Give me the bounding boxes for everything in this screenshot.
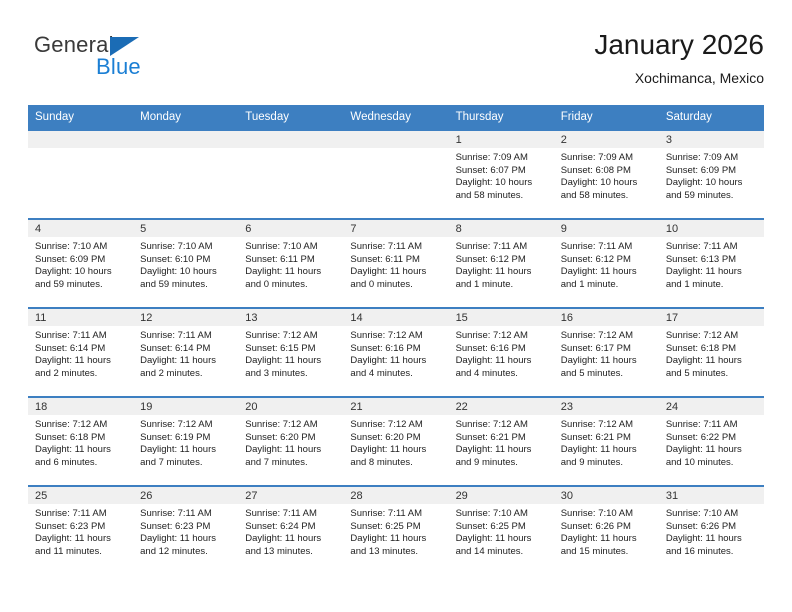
day-cell-details: Sunrise: 7:10 AMSunset: 6:26 PMDaylight:… <box>659 504 764 558</box>
daylight-text-line1: Daylight: 11 hours <box>666 355 758 368</box>
sunset-text: Sunset: 6:10 PM <box>140 254 232 267</box>
day-cell-inner: 23Sunrise: 7:12 AMSunset: 6:21 PMDayligh… <box>554 398 659 485</box>
calendar-day-cell[interactable]: 29Sunrise: 7:10 AMSunset: 6:25 PMDayligh… <box>449 486 554 575</box>
day-cell-details: Sunrise: 7:10 AMSunset: 6:26 PMDaylight:… <box>554 504 659 558</box>
daylight-text-line1: Daylight: 11 hours <box>350 444 442 457</box>
day-number <box>238 131 343 148</box>
sunrise-text: Sunrise: 7:10 AM <box>561 508 653 521</box>
calendar-day-cell[interactable]: 13Sunrise: 7:12 AMSunset: 6:15 PMDayligh… <box>238 308 343 397</box>
day-number: 14 <box>343 309 448 326</box>
daylight-text-line1: Daylight: 11 hours <box>561 355 653 368</box>
day-cell-details: Sunrise: 7:12 AMSunset: 6:19 PMDaylight:… <box>133 415 238 469</box>
daylight-text-line1: Daylight: 11 hours <box>35 444 127 457</box>
title-block: January 2026 Xochimanca, Mexico <box>594 28 764 88</box>
day-cell-details: Sunrise: 7:11 AMSunset: 6:11 PMDaylight:… <box>343 237 448 291</box>
calendar-day-cell[interactable]: 11Sunrise: 7:11 AMSunset: 6:14 PMDayligh… <box>28 308 133 397</box>
daylight-text-line2: and 59 minutes. <box>35 279 127 292</box>
sunset-text: Sunset: 6:07 PM <box>456 165 548 178</box>
calendar-day-cell[interactable]: 6Sunrise: 7:10 AMSunset: 6:11 PMDaylight… <box>238 219 343 308</box>
day-cell-inner: 25Sunrise: 7:11 AMSunset: 6:23 PMDayligh… <box>28 487 133 575</box>
day-number: 13 <box>238 309 343 326</box>
calendar-day-cell[interactable]: 26Sunrise: 7:11 AMSunset: 6:23 PMDayligh… <box>133 486 238 575</box>
daylight-text-line1: Daylight: 11 hours <box>456 444 548 457</box>
day-cell-details: Sunrise: 7:11 AMSunset: 6:12 PMDaylight:… <box>554 237 659 291</box>
day-cell-details: Sunrise: 7:10 AMSunset: 6:10 PMDaylight:… <box>133 237 238 291</box>
daylight-text-line2: and 6 minutes. <box>35 457 127 470</box>
daylight-text-line1: Daylight: 11 hours <box>666 533 758 546</box>
sunset-text: Sunset: 6:19 PM <box>140 432 232 445</box>
sunrise-text: Sunrise: 7:10 AM <box>456 508 548 521</box>
daylight-text-line1: Daylight: 11 hours <box>35 533 127 546</box>
sunset-text: Sunset: 6:23 PM <box>140 521 232 534</box>
day-cell-inner: 30Sunrise: 7:10 AMSunset: 6:26 PMDayligh… <box>554 487 659 575</box>
day-number: 4 <box>28 220 133 237</box>
day-cell-inner: 4Sunrise: 7:10 AMSunset: 6:09 PMDaylight… <box>28 220 133 307</box>
sunset-text: Sunset: 6:26 PM <box>666 521 758 534</box>
daylight-text-line2: and 0 minutes. <box>350 279 442 292</box>
sunset-text: Sunset: 6:18 PM <box>35 432 127 445</box>
day-number <box>343 131 448 148</box>
daylight-text-line2: and 15 minutes. <box>561 546 653 559</box>
day-number: 26 <box>133 487 238 504</box>
calendar-page: General Blue January 2026 Xochimanca, Me… <box>0 0 792 612</box>
weekday-header-monday: Monday <box>133 105 238 130</box>
day-cell-inner <box>133 131 238 218</box>
daylight-text-line2: and 16 minutes. <box>666 546 758 559</box>
daylight-text-line2: and 4 minutes. <box>456 368 548 381</box>
sunset-text: Sunset: 6:12 PM <box>456 254 548 267</box>
sunset-text: Sunset: 6:14 PM <box>140 343 232 356</box>
daylight-text-line1: Daylight: 11 hours <box>350 266 442 279</box>
day-number <box>133 131 238 148</box>
calendar-body: 1Sunrise: 7:09 AMSunset: 6:07 PMDaylight… <box>28 130 764 575</box>
calendar-day-cell-empty <box>343 130 448 219</box>
daylight-text-line1: Daylight: 10 hours <box>456 177 548 190</box>
daylight-text-line1: Daylight: 11 hours <box>245 444 337 457</box>
daylight-text-line2: and 59 minutes. <box>140 279 232 292</box>
daylight-text-line2: and 14 minutes. <box>456 546 548 559</box>
day-cell-details <box>238 148 343 152</box>
sunrise-text: Sunrise: 7:12 AM <box>245 419 337 432</box>
day-cell-inner: 11Sunrise: 7:11 AMSunset: 6:14 PMDayligh… <box>28 309 133 396</box>
sunrise-text: Sunrise: 7:12 AM <box>456 419 548 432</box>
day-cell-details: Sunrise: 7:11 AMSunset: 6:23 PMDaylight:… <box>133 504 238 558</box>
daylight-text-line1: Daylight: 11 hours <box>666 444 758 457</box>
calendar-day-cell[interactable]: 24Sunrise: 7:11 AMSunset: 6:22 PMDayligh… <box>659 397 764 486</box>
daylight-text-line1: Daylight: 10 hours <box>666 177 758 190</box>
daylight-text-line2: and 0 minutes. <box>245 279 337 292</box>
sunrise-text: Sunrise: 7:11 AM <box>456 241 548 254</box>
daylight-text-line1: Daylight: 11 hours <box>140 444 232 457</box>
weekday-header-saturday: Saturday <box>659 105 764 130</box>
calendar-week-row: 4Sunrise: 7:10 AMSunset: 6:09 PMDaylight… <box>28 219 764 308</box>
day-cell-inner: 20Sunrise: 7:12 AMSunset: 6:20 PMDayligh… <box>238 398 343 485</box>
day-cell-inner: 3Sunrise: 7:09 AMSunset: 6:09 PMDaylight… <box>659 131 764 218</box>
calendar-day-cell[interactable]: 17Sunrise: 7:12 AMSunset: 6:18 PMDayligh… <box>659 308 764 397</box>
day-cell-inner: 8Sunrise: 7:11 AMSunset: 6:12 PMDaylight… <box>449 220 554 307</box>
day-number: 22 <box>449 398 554 415</box>
sunrise-text: Sunrise: 7:12 AM <box>456 330 548 343</box>
day-cell-details <box>133 148 238 152</box>
sunrise-text: Sunrise: 7:10 AM <box>140 241 232 254</box>
day-number: 1 <box>449 131 554 148</box>
sunrise-text: Sunrise: 7:12 AM <box>666 330 758 343</box>
day-cell-inner: 14Sunrise: 7:12 AMSunset: 6:16 PMDayligh… <box>343 309 448 396</box>
daylight-text-line2: and 1 minute. <box>666 279 758 292</box>
day-number: 24 <box>659 398 764 415</box>
daylight-text-line1: Daylight: 11 hours <box>140 533 232 546</box>
sunset-text: Sunset: 6:25 PM <box>456 521 548 534</box>
sunset-text: Sunset: 6:25 PM <box>350 521 442 534</box>
calendar-day-cell[interactable]: 7Sunrise: 7:11 AMSunset: 6:11 PMDaylight… <box>343 219 448 308</box>
day-cell-details: Sunrise: 7:11 AMSunset: 6:25 PMDaylight:… <box>343 504 448 558</box>
calendar-day-cell[interactable]: 10Sunrise: 7:11 AMSunset: 6:13 PMDayligh… <box>659 219 764 308</box>
sunset-text: Sunset: 6:21 PM <box>456 432 548 445</box>
day-number: 8 <box>449 220 554 237</box>
day-number: 3 <box>659 131 764 148</box>
sunset-text: Sunset: 6:11 PM <box>245 254 337 267</box>
day-cell-details: Sunrise: 7:12 AMSunset: 6:18 PMDaylight:… <box>28 415 133 469</box>
sunset-text: Sunset: 6:13 PM <box>666 254 758 267</box>
sunset-text: Sunset: 6:26 PM <box>561 521 653 534</box>
calendar-day-cell[interactable]: 21Sunrise: 7:12 AMSunset: 6:20 PMDayligh… <box>343 397 448 486</box>
daylight-text-line2: and 1 minute. <box>561 279 653 292</box>
sunrise-text: Sunrise: 7:11 AM <box>35 508 127 521</box>
day-number <box>28 131 133 148</box>
day-cell-inner: 27Sunrise: 7:11 AMSunset: 6:24 PMDayligh… <box>238 487 343 575</box>
day-number: 16 <box>554 309 659 326</box>
calendar-day-cell[interactable]: 2Sunrise: 7:09 AMSunset: 6:08 PMDaylight… <box>554 130 659 219</box>
sunrise-text: Sunrise: 7:10 AM <box>245 241 337 254</box>
calendar-day-cell-empty <box>133 130 238 219</box>
calendar-week-row: 1Sunrise: 7:09 AMSunset: 6:07 PMDaylight… <box>28 130 764 219</box>
sunset-text: Sunset: 6:18 PM <box>666 343 758 356</box>
daylight-text-line1: Daylight: 11 hours <box>561 533 653 546</box>
daylight-text-line1: Daylight: 11 hours <box>561 266 653 279</box>
daylight-text-line2: and 1 minute. <box>456 279 548 292</box>
day-cell-details <box>343 148 448 152</box>
daylight-text-line2: and 5 minutes. <box>666 368 758 381</box>
day-number: 31 <box>659 487 764 504</box>
day-cell-inner <box>238 131 343 218</box>
day-cell-details: Sunrise: 7:11 AMSunset: 6:12 PMDaylight:… <box>449 237 554 291</box>
day-cell-details: Sunrise: 7:11 AMSunset: 6:23 PMDaylight:… <box>28 504 133 558</box>
day-cell-details: Sunrise: 7:11 AMSunset: 6:14 PMDaylight:… <box>28 326 133 380</box>
day-cell-inner: 17Sunrise: 7:12 AMSunset: 6:18 PMDayligh… <box>659 309 764 396</box>
day-cell-inner: 18Sunrise: 7:12 AMSunset: 6:18 PMDayligh… <box>28 398 133 485</box>
day-cell-inner: 19Sunrise: 7:12 AMSunset: 6:19 PMDayligh… <box>133 398 238 485</box>
day-cell-details: Sunrise: 7:09 AMSunset: 6:07 PMDaylight:… <box>449 148 554 202</box>
day-cell-details: Sunrise: 7:12 AMSunset: 6:18 PMDaylight:… <box>659 326 764 380</box>
daylight-text-line2: and 10 minutes. <box>666 457 758 470</box>
calendar-day-cell[interactable]: 8Sunrise: 7:11 AMSunset: 6:12 PMDaylight… <box>449 219 554 308</box>
day-cell-details: Sunrise: 7:09 AMSunset: 6:08 PMDaylight:… <box>554 148 659 202</box>
daylight-text-line1: Daylight: 10 hours <box>561 177 653 190</box>
daylight-text-line1: Daylight: 10 hours <box>35 266 127 279</box>
calendar-day-cell[interactable]: 25Sunrise: 7:11 AMSunset: 6:23 PMDayligh… <box>28 486 133 575</box>
weekday-header-wednesday: Wednesday <box>343 105 448 130</box>
day-number: 17 <box>659 309 764 326</box>
day-number: 10 <box>659 220 764 237</box>
day-cell-inner: 6Sunrise: 7:10 AMSunset: 6:11 PMDaylight… <box>238 220 343 307</box>
day-cell-inner <box>343 131 448 218</box>
sunset-text: Sunset: 6:12 PM <box>561 254 653 267</box>
calendar-day-cell[interactable]: 15Sunrise: 7:12 AMSunset: 6:16 PMDayligh… <box>449 308 554 397</box>
calendar-day-cell[interactable]: 23Sunrise: 7:12 AMSunset: 6:21 PMDayligh… <box>554 397 659 486</box>
day-cell-inner: 28Sunrise: 7:11 AMSunset: 6:25 PMDayligh… <box>343 487 448 575</box>
weekday-header-sunday: Sunday <box>28 105 133 130</box>
day-cell-details: Sunrise: 7:11 AMSunset: 6:14 PMDaylight:… <box>133 326 238 380</box>
day-cell-inner: 22Sunrise: 7:12 AMSunset: 6:21 PMDayligh… <box>449 398 554 485</box>
day-number: 21 <box>343 398 448 415</box>
sunset-text: Sunset: 6:22 PM <box>666 432 758 445</box>
calendar-week-row: 25Sunrise: 7:11 AMSunset: 6:23 PMDayligh… <box>28 486 764 575</box>
day-cell-details: Sunrise: 7:11 AMSunset: 6:24 PMDaylight:… <box>238 504 343 558</box>
daylight-text-line1: Daylight: 11 hours <box>35 355 127 368</box>
day-number: 11 <box>28 309 133 326</box>
calendar-week-row: 18Sunrise: 7:12 AMSunset: 6:18 PMDayligh… <box>28 397 764 486</box>
day-number: 12 <box>133 309 238 326</box>
calendar-day-cell[interactable]: 28Sunrise: 7:11 AMSunset: 6:25 PMDayligh… <box>343 486 448 575</box>
day-cell-inner: 9Sunrise: 7:11 AMSunset: 6:12 PMDaylight… <box>554 220 659 307</box>
day-cell-details: Sunrise: 7:10 AMSunset: 6:11 PMDaylight:… <box>238 237 343 291</box>
day-number: 27 <box>238 487 343 504</box>
daylight-text-line1: Daylight: 11 hours <box>245 533 337 546</box>
calendar-grid: SundayMondayTuesdayWednesdayThursdayFrid… <box>28 105 764 575</box>
calendar-day-cell-empty <box>28 130 133 219</box>
day-cell-inner: 13Sunrise: 7:12 AMSunset: 6:15 PMDayligh… <box>238 309 343 396</box>
daylight-text-line1: Daylight: 11 hours <box>666 266 758 279</box>
day-number: 23 <box>554 398 659 415</box>
sunrise-text: Sunrise: 7:12 AM <box>561 419 653 432</box>
day-number: 18 <box>28 398 133 415</box>
day-number: 5 <box>133 220 238 237</box>
day-cell-details: Sunrise: 7:12 AMSunset: 6:16 PMDaylight:… <box>449 326 554 380</box>
daylight-text-line1: Daylight: 11 hours <box>456 533 548 546</box>
daylight-text-line2: and 13 minutes. <box>350 546 442 559</box>
sunrise-text: Sunrise: 7:11 AM <box>245 508 337 521</box>
day-cell-inner <box>28 131 133 218</box>
day-cell-details: Sunrise: 7:12 AMSunset: 6:15 PMDaylight:… <box>238 326 343 380</box>
sunrise-text: Sunrise: 7:11 AM <box>350 508 442 521</box>
day-cell-details: Sunrise: 7:09 AMSunset: 6:09 PMDaylight:… <box>659 148 764 202</box>
day-cell-inner: 24Sunrise: 7:11 AMSunset: 6:22 PMDayligh… <box>659 398 764 485</box>
day-cell-inner: 15Sunrise: 7:12 AMSunset: 6:16 PMDayligh… <box>449 309 554 396</box>
daylight-text-line1: Daylight: 11 hours <box>456 355 548 368</box>
weekday-header-friday: Friday <box>554 105 659 130</box>
sunrise-text: Sunrise: 7:12 AM <box>140 419 232 432</box>
page-title: January 2026 <box>594 28 764 62</box>
day-number: 19 <box>133 398 238 415</box>
sunrise-text: Sunrise: 7:11 AM <box>140 508 232 521</box>
day-cell-inner: 31Sunrise: 7:10 AMSunset: 6:26 PMDayligh… <box>659 487 764 575</box>
page-header: General Blue January 2026 Xochimanca, Me… <box>28 28 764 94</box>
sunset-text: Sunset: 6:16 PM <box>456 343 548 356</box>
daylight-text-line2: and 9 minutes. <box>561 457 653 470</box>
sunrise-text: Sunrise: 7:12 AM <box>350 419 442 432</box>
day-cell-details: Sunrise: 7:11 AMSunset: 6:22 PMDaylight:… <box>659 415 764 469</box>
daylight-text-line2: and 13 minutes. <box>245 546 337 559</box>
calendar-day-cell[interactable]: 9Sunrise: 7:11 AMSunset: 6:12 PMDaylight… <box>554 219 659 308</box>
daylight-text-line2: and 3 minutes. <box>245 368 337 381</box>
daylight-text-line2: and 5 minutes. <box>561 368 653 381</box>
sunrise-text: Sunrise: 7:10 AM <box>35 241 127 254</box>
day-number: 7 <box>343 220 448 237</box>
daylight-text-line1: Daylight: 11 hours <box>350 533 442 546</box>
sunrise-text: Sunrise: 7:11 AM <box>35 330 127 343</box>
day-cell-inner: 5Sunrise: 7:10 AMSunset: 6:10 PMDaylight… <box>133 220 238 307</box>
day-number: 25 <box>28 487 133 504</box>
day-number: 9 <box>554 220 659 237</box>
calendar-day-cell[interactable]: 1Sunrise: 7:09 AMSunset: 6:07 PMDaylight… <box>449 130 554 219</box>
calendar-day-cell[interactable]: 5Sunrise: 7:10 AMSunset: 6:10 PMDaylight… <box>133 219 238 308</box>
day-cell-details: Sunrise: 7:11 AMSunset: 6:13 PMDaylight:… <box>659 237 764 291</box>
day-number: 6 <box>238 220 343 237</box>
daylight-text-line1: Daylight: 11 hours <box>245 355 337 368</box>
sunset-text: Sunset: 6:09 PM <box>666 165 758 178</box>
day-number: 15 <box>449 309 554 326</box>
sunset-text: Sunset: 6:21 PM <box>561 432 653 445</box>
day-cell-details <box>28 148 133 152</box>
sunrise-text: Sunrise: 7:11 AM <box>350 241 442 254</box>
day-cell-inner: 7Sunrise: 7:11 AMSunset: 6:11 PMDaylight… <box>343 220 448 307</box>
daylight-text-line2: and 2 minutes. <box>35 368 127 381</box>
daylight-text-line2: and 2 minutes. <box>140 368 232 381</box>
sunrise-text: Sunrise: 7:12 AM <box>561 330 653 343</box>
logo-text-blue: Blue <box>96 54 141 80</box>
calendar-day-cell[interactable]: 22Sunrise: 7:12 AMSunset: 6:21 PMDayligh… <box>449 397 554 486</box>
sunrise-text: Sunrise: 7:11 AM <box>561 241 653 254</box>
day-cell-inner: 12Sunrise: 7:11 AMSunset: 6:14 PMDayligh… <box>133 309 238 396</box>
daylight-text-line2: and 4 minutes. <box>350 368 442 381</box>
sunrise-text: Sunrise: 7:10 AM <box>666 508 758 521</box>
day-number: 30 <box>554 487 659 504</box>
calendar-day-cell[interactable]: 3Sunrise: 7:09 AMSunset: 6:09 PMDaylight… <box>659 130 764 219</box>
daylight-text-line1: Daylight: 11 hours <box>245 266 337 279</box>
day-number: 29 <box>449 487 554 504</box>
day-cell-details: Sunrise: 7:12 AMSunset: 6:20 PMDaylight:… <box>238 415 343 469</box>
calendar-day-cell[interactable]: 19Sunrise: 7:12 AMSunset: 6:19 PMDayligh… <box>133 397 238 486</box>
sunset-text: Sunset: 6:15 PM <box>245 343 337 356</box>
daylight-text-line2: and 59 minutes. <box>666 190 758 203</box>
daylight-text-line2: and 58 minutes. <box>456 190 548 203</box>
sunset-text: Sunset: 6:16 PM <box>350 343 442 356</box>
day-cell-details: Sunrise: 7:12 AMSunset: 6:21 PMDaylight:… <box>554 415 659 469</box>
calendar-day-cell[interactable]: 31Sunrise: 7:10 AMSunset: 6:26 PMDayligh… <box>659 486 764 575</box>
weekday-header-tuesday: Tuesday <box>238 105 343 130</box>
calendar-day-cell[interactable]: 16Sunrise: 7:12 AMSunset: 6:17 PMDayligh… <box>554 308 659 397</box>
sunset-text: Sunset: 6:23 PM <box>35 521 127 534</box>
day-cell-inner: 21Sunrise: 7:12 AMSunset: 6:20 PMDayligh… <box>343 398 448 485</box>
sunrise-text: Sunrise: 7:09 AM <box>561 152 653 165</box>
calendar-week-row: 11Sunrise: 7:11 AMSunset: 6:14 PMDayligh… <box>28 308 764 397</box>
sunset-text: Sunset: 6:17 PM <box>561 343 653 356</box>
day-number: 20 <box>238 398 343 415</box>
day-cell-inner: 2Sunrise: 7:09 AMSunset: 6:08 PMDaylight… <box>554 131 659 218</box>
day-cell-details: Sunrise: 7:12 AMSunset: 6:17 PMDaylight:… <box>554 326 659 380</box>
daylight-text-line1: Daylight: 11 hours <box>140 355 232 368</box>
calendar-day-cell[interactable]: 18Sunrise: 7:12 AMSunset: 6:18 PMDayligh… <box>28 397 133 486</box>
sunrise-text: Sunrise: 7:11 AM <box>666 241 758 254</box>
calendar-day-cell[interactable]: 20Sunrise: 7:12 AMSunset: 6:20 PMDayligh… <box>238 397 343 486</box>
daylight-text-line2: and 7 minutes. <box>245 457 337 470</box>
sunset-text: Sunset: 6:24 PM <box>245 521 337 534</box>
sunrise-text: Sunrise: 7:09 AM <box>456 152 548 165</box>
daylight-text-line1: Daylight: 11 hours <box>456 266 548 279</box>
sunset-text: Sunset: 6:20 PM <box>350 432 442 445</box>
day-cell-details: Sunrise: 7:12 AMSunset: 6:21 PMDaylight:… <box>449 415 554 469</box>
calendar-day-cell[interactable]: 27Sunrise: 7:11 AMSunset: 6:24 PMDayligh… <box>238 486 343 575</box>
day-cell-inner: 26Sunrise: 7:11 AMSunset: 6:23 PMDayligh… <box>133 487 238 575</box>
day-cell-inner: 16Sunrise: 7:12 AMSunset: 6:17 PMDayligh… <box>554 309 659 396</box>
day-cell-details: Sunrise: 7:10 AMSunset: 6:25 PMDaylight:… <box>449 504 554 558</box>
sunset-text: Sunset: 6:11 PM <box>350 254 442 267</box>
sunset-text: Sunset: 6:08 PM <box>561 165 653 178</box>
day-cell-details: Sunrise: 7:12 AMSunset: 6:20 PMDaylight:… <box>343 415 448 469</box>
calendar-day-cell[interactable]: 4Sunrise: 7:10 AMSunset: 6:09 PMDaylight… <box>28 219 133 308</box>
daylight-text-line2: and 58 minutes. <box>561 190 653 203</box>
sunset-text: Sunset: 6:14 PM <box>35 343 127 356</box>
sunrise-text: Sunrise: 7:11 AM <box>140 330 232 343</box>
general-blue-logo[interactable]: General Blue <box>34 32 234 88</box>
day-cell-details: Sunrise: 7:12 AMSunset: 6:16 PMDaylight:… <box>343 326 448 380</box>
daylight-text-line2: and 12 minutes. <box>140 546 232 559</box>
daylight-text-line1: Daylight: 11 hours <box>350 355 442 368</box>
calendar-day-cell[interactable]: 12Sunrise: 7:11 AMSunset: 6:14 PMDayligh… <box>133 308 238 397</box>
sunset-text: Sunset: 6:09 PM <box>35 254 127 267</box>
daylight-text-line1: Daylight: 10 hours <box>140 266 232 279</box>
sunset-text: Sunset: 6:20 PM <box>245 432 337 445</box>
sunrise-text: Sunrise: 7:09 AM <box>666 152 758 165</box>
daylight-text-line2: and 9 minutes. <box>456 457 548 470</box>
daylight-text-line2: and 11 minutes. <box>35 546 127 559</box>
sunrise-text: Sunrise: 7:12 AM <box>350 330 442 343</box>
sunrise-text: Sunrise: 7:11 AM <box>666 419 758 432</box>
day-cell-inner: 10Sunrise: 7:11 AMSunset: 6:13 PMDayligh… <box>659 220 764 307</box>
daylight-text-line1: Daylight: 11 hours <box>561 444 653 457</box>
daylight-text-line2: and 7 minutes. <box>140 457 232 470</box>
day-cell-inner: 29Sunrise: 7:10 AMSunset: 6:25 PMDayligh… <box>449 487 554 575</box>
sunrise-text: Sunrise: 7:12 AM <box>245 330 337 343</box>
day-cell-inner: 1Sunrise: 7:09 AMSunset: 6:07 PMDaylight… <box>449 131 554 218</box>
day-number: 28 <box>343 487 448 504</box>
calendar-day-cell[interactable]: 14Sunrise: 7:12 AMSunset: 6:16 PMDayligh… <box>343 308 448 397</box>
weekday-header-thursday: Thursday <box>449 105 554 130</box>
calendar-header-row: SundayMondayTuesdayWednesdayThursdayFrid… <box>28 105 764 130</box>
day-cell-details: Sunrise: 7:10 AMSunset: 6:09 PMDaylight:… <box>28 237 133 291</box>
calendar-day-cell-empty <box>238 130 343 219</box>
day-number: 2 <box>554 131 659 148</box>
page-subtitle-location: Xochimanca, Mexico <box>594 68 764 88</box>
daylight-text-line2: and 8 minutes. <box>350 457 442 470</box>
calendar-day-cell[interactable]: 30Sunrise: 7:10 AMSunset: 6:26 PMDayligh… <box>554 486 659 575</box>
sunrise-text: Sunrise: 7:12 AM <box>35 419 127 432</box>
